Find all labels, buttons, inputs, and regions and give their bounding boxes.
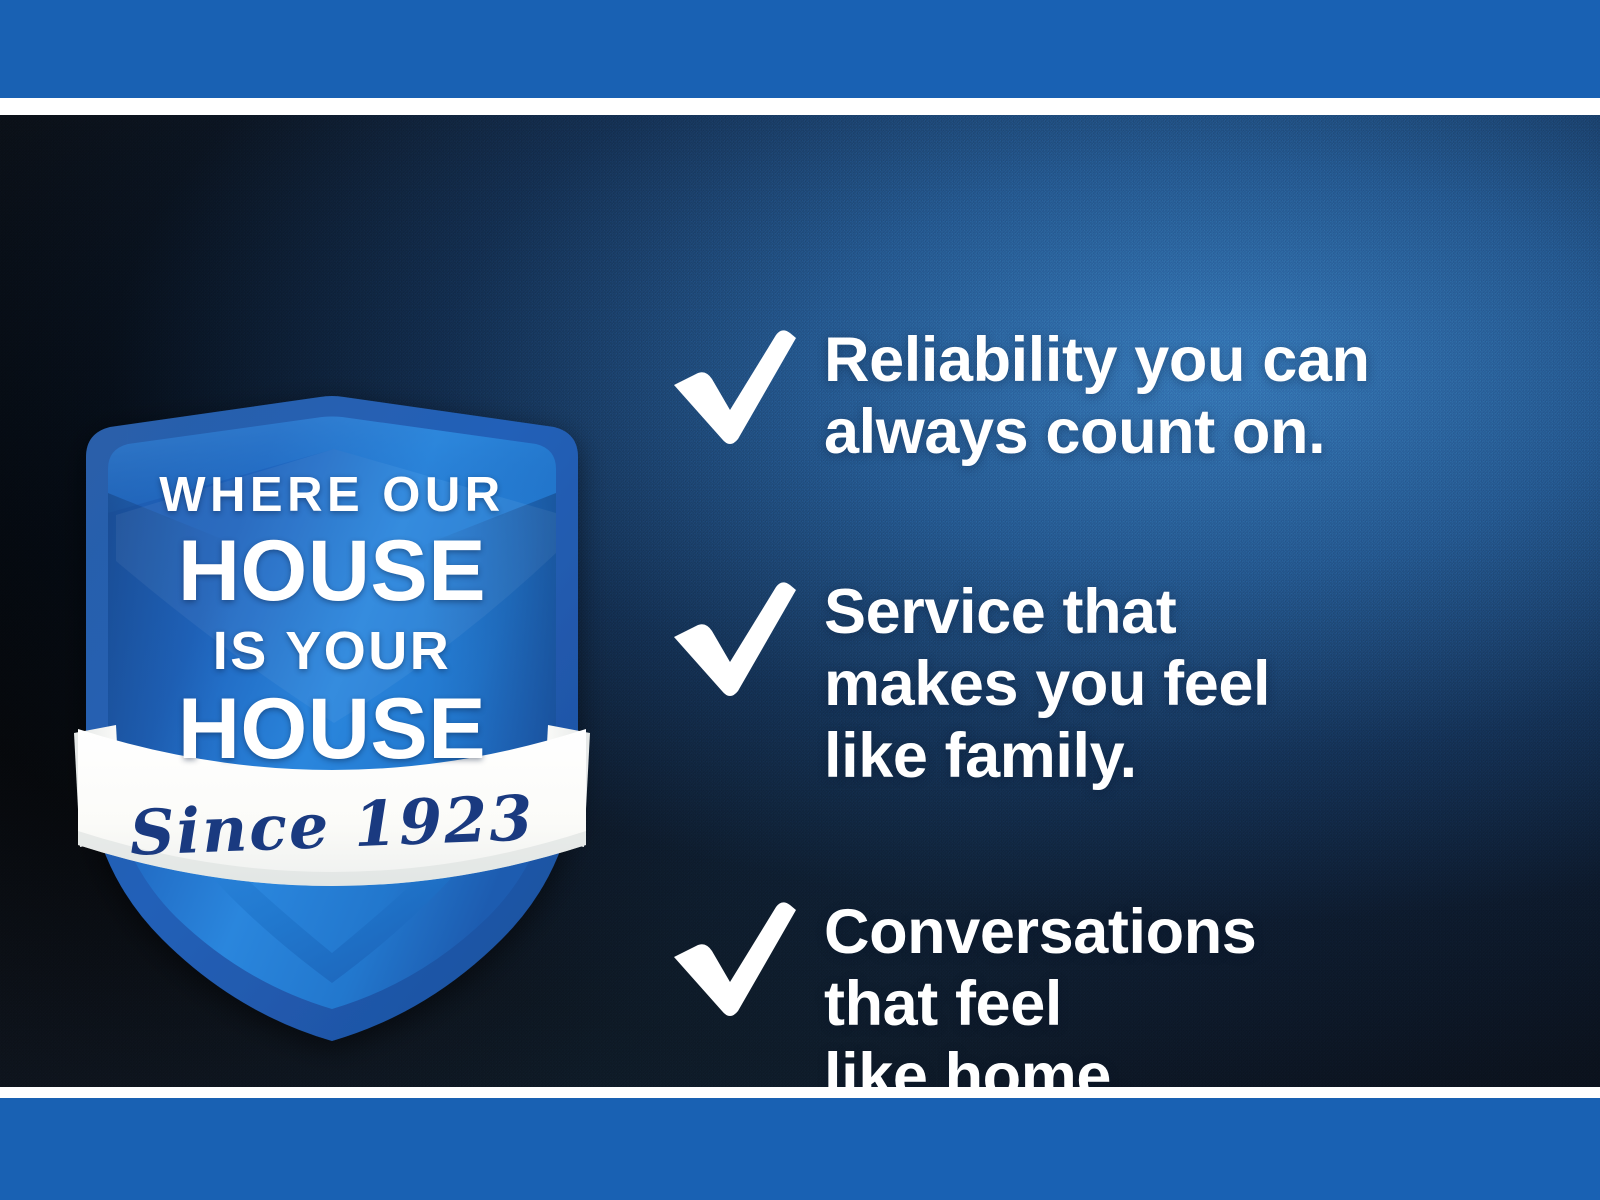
list-item-label: Conversations that feel like home. <box>824 897 1256 1087</box>
main-panel: WHERE OUR HOUSE IS YOUR HOUSE Since 1923… <box>0 115 1600 1087</box>
list-item: Reliability you can always count on. <box>668 325 1370 469</box>
bottom-brand-bar <box>0 1098 1600 1200</box>
list-item: Service that makes you feel like family. <box>668 577 1270 792</box>
checkmark-icon <box>668 901 798 1019</box>
list-item-label: Reliability you can always count on. <box>824 325 1370 469</box>
top-brand-bar <box>0 0 1600 98</box>
promo-graphic: WHERE OUR HOUSE IS YOUR HOUSE Since 1923… <box>0 0 1600 1200</box>
benefits-list: Reliability you can always count on. Ser… <box>668 265 1548 1087</box>
checkmark-icon <box>668 329 798 447</box>
shield-badge: WHERE OUR HOUSE IS YOUR HOUSE Since 1923 <box>72 393 592 1043</box>
checkmark-icon <box>668 581 798 699</box>
list-item-label: Service that makes you feel like family. <box>824 577 1270 792</box>
list-item: Conversations that feel like home. <box>668 897 1256 1087</box>
